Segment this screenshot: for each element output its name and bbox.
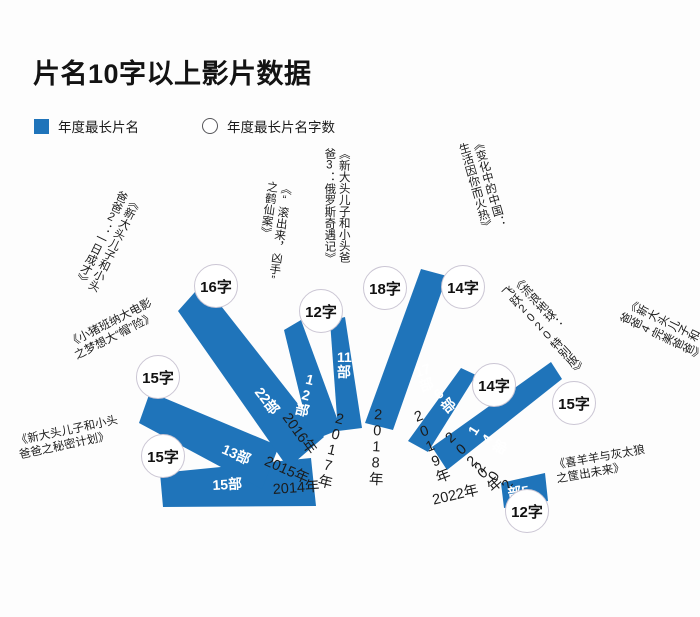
year-label-2018: 2018年 [368,407,386,472]
bar-count-label-2014: 15部 [212,473,243,495]
char-count-bubble-2021: 15字 [552,381,596,425]
infographic-canvas: 片名10字以上影片数据 年度最长片名 年度最长片名字数 [0,0,700,617]
char-count-bubble-2019: 14字 [441,265,485,309]
char-count-bubble-2015: 15字 [136,355,180,399]
fan-bars-svg [0,0,700,617]
bar-count-label-2018: 11 部 [337,350,352,379]
char-count-bubble-2020: 14字 [472,363,516,407]
char-count-bubble-2018: 18字 [363,266,407,310]
radial-fan-chart: 15字 15部 2014年 《新大头儿子和小头 爸爸之秘密计划》 15字 13部… [0,0,700,617]
film-name-label-2018: 《新大头儿子和小头爸 爸3：俄罗斯奇遇记》 [322,148,351,258]
char-count-bubble-2017: 12字 [299,289,343,333]
char-count-bubble-2014: 15字 [141,434,185,478]
char-count-bubble-2022: 12字 [505,489,549,533]
char-count-bubble-2016: 16字 [194,264,238,308]
